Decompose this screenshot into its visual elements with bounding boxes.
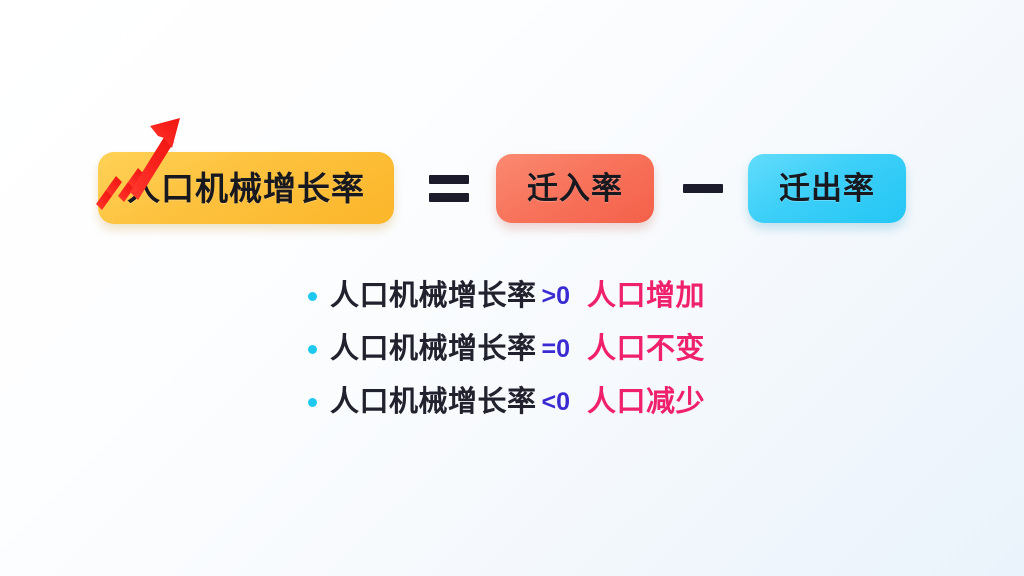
- inflow-rate-box: 迁入率: [496, 154, 654, 223]
- bullet-term: 人口机械增长率: [330, 282, 537, 311]
- bullet-term: 人口机械增长率: [330, 335, 537, 364]
- bullet-dot-icon: [308, 292, 317, 301]
- bullet-dot-icon: [308, 398, 317, 407]
- bullet-result: 人口不变: [587, 335, 705, 364]
- bullet-term: 人口机械增长率: [330, 388, 537, 417]
- list-item: 人口机械增长率 <0 人口减少: [308, 385, 705, 419]
- slide-canvas: 人口机械增长率 迁入率 迁出率: [0, 0, 1024, 576]
- bullet-comparison: =0: [542, 337, 571, 362]
- minus-sign-icon: [674, 152, 732, 224]
- equation-row: 人口机械增长率 迁入率 迁出率: [98, 150, 906, 226]
- equals-sign-icon: [420, 152, 478, 224]
- bullet-result: 人口增加: [587, 282, 705, 311]
- minus-bar: [683, 184, 723, 193]
- bullet-comparison: <0: [542, 390, 571, 415]
- term-box-population-mechanical-growth-rate: 人口机械增长率: [98, 152, 394, 224]
- list-item: 人口机械增长率 =0 人口不变: [308, 332, 705, 366]
- term-box-label: 人口机械增长率: [127, 172, 365, 205]
- bullet-result: 人口减少: [587, 388, 705, 417]
- conclusion-bullet-list: 人口机械增长率 >0 人口增加 人口机械增长率 =0 人口不变 人口机械增长率 …: [308, 279, 705, 419]
- outflow-rate-box: 迁出率: [748, 154, 906, 223]
- equals-bar-bottom: [429, 193, 469, 202]
- bullet-dot-icon: [308, 345, 317, 354]
- equals-bar-top: [429, 175, 469, 184]
- list-item: 人口机械增长率 >0 人口增加: [308, 279, 705, 313]
- inflow-rate-label: 迁入率: [527, 173, 623, 204]
- bullet-comparison: >0: [542, 284, 571, 309]
- outflow-rate-label: 迁出率: [779, 173, 875, 204]
